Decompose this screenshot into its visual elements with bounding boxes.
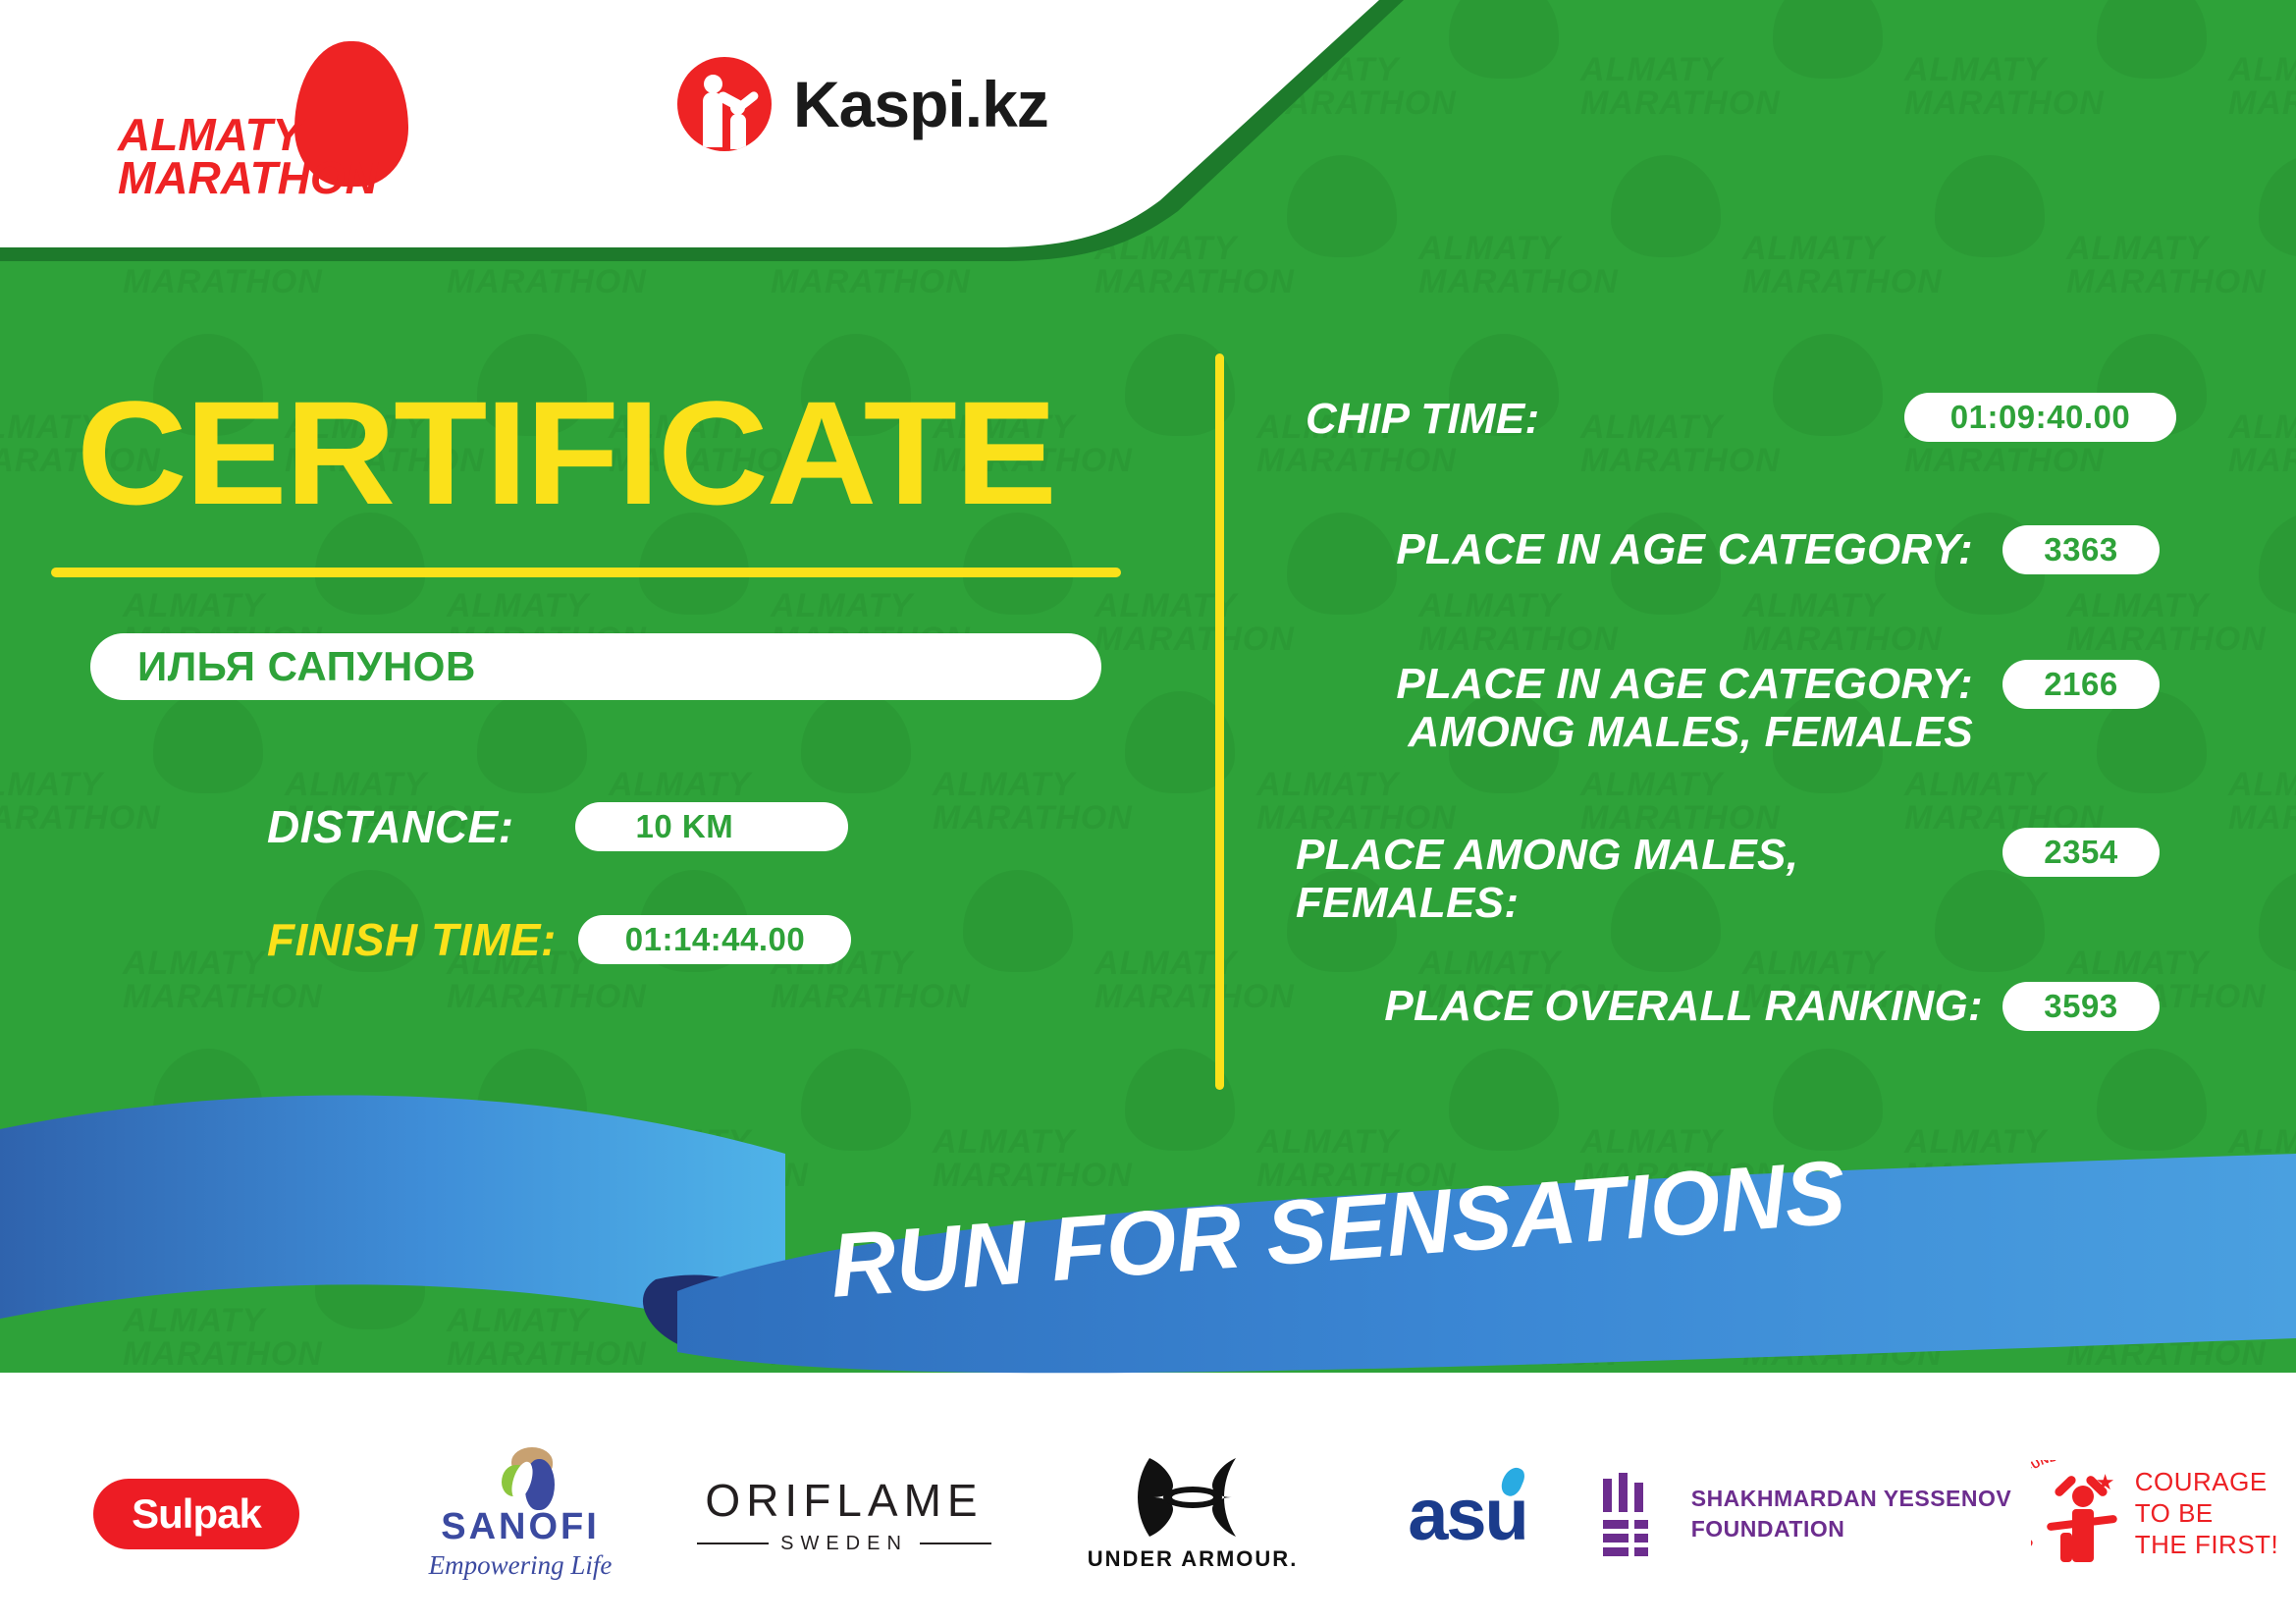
sanofi-tagline: Empowering Life [429, 1550, 613, 1581]
courage-text: COURAGE TO BE THE FIRST! [2135, 1467, 2279, 1560]
watermark-drop-icon [1935, 155, 2045, 257]
distance-value: 10 KM [636, 808, 734, 845]
oriflame-subline: SWEDEN [697, 1533, 991, 1555]
watermark-line2: MARATHON [1904, 442, 2105, 480]
finish-time-row: FINISH TIME: 01:14:44.00 [267, 913, 851, 966]
watermark-tile: ALMATYMARATHON [2228, 0, 2296, 149]
sanofi-text: SANOFI [441, 1506, 600, 1548]
finish-time-value-pill: 01:14:44.00 [578, 915, 851, 964]
result-value: 2354 [2044, 834, 2117, 871]
courage-line2: TO BE [2135, 1498, 2279, 1530]
watermark-line2: MARATHON [1418, 263, 1619, 301]
watermark-line2: MARATHON [2066, 621, 2267, 659]
oriflame-rule-left [697, 1543, 769, 1544]
result-label: PLACE IN AGE CATEGORY: [1306, 525, 1973, 573]
result-value: 2166 [2044, 666, 2117, 703]
asu-logo: asu [1408, 1473, 1527, 1556]
yessenov-text: SHAKHMARDAN YESSENOV FOUNDATION [1691, 1486, 2012, 1543]
sulpak-logo: Sulpak [93, 1479, 299, 1549]
sponsor-under-armour: UNDER ARMOUR. [1055, 1404, 1330, 1624]
distance-value-pill: 10 KM [575, 802, 848, 851]
result-label: PLACE OVERALL RANKING: [1296, 982, 1983, 1030]
watermark-drop-icon [963, 870, 1073, 972]
result-label-line2: AMONG MALES, FEMALES [1306, 708, 1973, 756]
watermark-drop-icon [2259, 870, 2296, 972]
courage-head [2072, 1486, 2094, 1507]
kaspi-logo: Kaspi.kz [677, 57, 1048, 151]
watermark-line2: MARATHON [1580, 84, 1781, 123]
sponsor-asu: asu [1345, 1404, 1590, 1624]
participant-name-field: ИЛЬЯ САПУНОВ [90, 633, 1101, 700]
watermark-drop-icon [1773, 0, 1883, 79]
yes-bar-6 [1603, 1534, 1629, 1543]
watermark-tile: ALMATYMARATHON [0, 685, 285, 864]
courage-line3: THE FIRST! [2135, 1530, 2279, 1561]
result-row-overall: PLACE OVERALL RANKING: [1296, 982, 1983, 1030]
kaspi-kid-body [730, 114, 746, 149]
watermark-tile: ALMATYMARATHON [2228, 685, 2296, 864]
distance-row: DISTANCE: 10 KM [267, 800, 848, 853]
almaty-logo-line2: MARATHON [118, 151, 378, 204]
watermark-tile: ALMATYMARATHON [1418, 149, 1742, 328]
sponsor-yessenov-foundation: SHAKHMARDAN YESSENOV FOUNDATION [1600, 1404, 2012, 1624]
watermark-line2: MARATHON [1095, 978, 1295, 1016]
sponsor-courage-fund: CORPORATE FUND ★ COURAGE TO BE THE FIRST… [2022, 1404, 2287, 1624]
result-label-line2: FEMALES: [1296, 879, 1973, 927]
result-value: 3593 [2044, 988, 2117, 1025]
courage-line1: COURAGE [2135, 1467, 2279, 1498]
result-value-pill-among-gender: 2354 [2002, 828, 2160, 877]
watermark-tile: ALMATYMARATHON [1742, 149, 2066, 328]
sanofi-bird-icon [484, 1447, 557, 1504]
participant-name: ИЛЬЯ САПУНОВ [137, 643, 476, 690]
yessenov-line1: SHAKHMARDAN YESSENOV [1691, 1486, 2012, 1512]
sponsor-oriflame: ORIFLAME SWEDEN [687, 1404, 1001, 1624]
svg-text:CORPORATE FUND: CORPORATE FUND [2031, 1460, 2058, 1551]
page-title: CERTIFICATE [77, 385, 1055, 520]
watermark-line2: MARATHON [123, 978, 323, 1016]
result-row-age-category-gender: PLACE IN AGE CATEGORY: AMONG MALES, FEMA… [1306, 660, 1973, 757]
watermark-line2: MARATHON [1904, 84, 2105, 123]
yes-bar-8 [1603, 1547, 1629, 1556]
watermark-drop-icon [2097, 0, 2207, 79]
result-value-pill-chip-time: 01:09:40.00 [1904, 393, 2176, 442]
header-panel: ALMATY MARATHON Kaspi.kz [0, 0, 1404, 273]
result-label-line1: PLACE AMONG MALES, [1296, 831, 1973, 879]
watermark-line2: MARATHON [1742, 263, 1943, 301]
watermark-drop-icon [1449, 0, 1559, 79]
courage-leg [2060, 1533, 2072, 1562]
kaspi-figures-icon [677, 57, 772, 151]
result-label-multiline: PLACE AMONG MALES, FEMALES: [1296, 831, 1973, 928]
watermark-line2: MARATHON [0, 799, 161, 838]
sponsor-sanofi: SANOFI Empowering Life [373, 1404, 667, 1624]
yessenov-bars-icon [1601, 1473, 1670, 1555]
under-armour-text: UNDER ARMOUR. [1088, 1546, 1299, 1572]
sulpak-text: Sulpak [132, 1490, 261, 1538]
yessenov-line2: FOUNDATION [1691, 1516, 2012, 1543]
yes-bar-3 [1634, 1483, 1643, 1512]
watermark-drop-icon [1611, 155, 1721, 257]
watermark-line2: MARATHON [447, 978, 647, 1016]
watermark-line2: MARATHON [2228, 799, 2296, 838]
kaspi-kid-head [730, 100, 745, 115]
result-value-pill-overall: 3593 [2002, 982, 2160, 1031]
result-row-age-category: PLACE IN AGE CATEGORY: [1306, 525, 1973, 573]
watermark-drop-icon [477, 691, 587, 793]
result-label: CHIP TIME: [1306, 395, 1539, 443]
result-row-chip-time: CHIP TIME: [1306, 395, 1895, 443]
result-value-pill-age-category-gender: 2166 [2002, 660, 2160, 709]
result-row-among-gender: PLACE AMONG MALES, FEMALES: [1296, 831, 1973, 928]
under-armour-icon [1134, 1456, 1252, 1539]
certificate-page: ALMATYMARATHONALMATYMARATHONALMATYMARATH… [0, 0, 2296, 1624]
title-underline [51, 568, 1121, 577]
oriflame-rule-right [920, 1543, 991, 1544]
watermark-line2: MARATHON [771, 978, 971, 1016]
yes-bar-4 [1603, 1520, 1629, 1529]
watermark-line2: MARATHON [2228, 442, 2296, 480]
result-label-line1: PLACE IN AGE CATEGORY: [1306, 660, 1973, 708]
watermark-drop-icon [801, 691, 911, 793]
result-label-multiline: PLACE IN AGE CATEGORY: AMONG MALES, FEMA… [1306, 660, 1973, 757]
watermark-line2: MARATHON [2066, 263, 2267, 301]
result-value-pill-age-category: 3363 [2002, 525, 2160, 574]
sponsor-sulpak: Sulpak [59, 1404, 334, 1624]
yes-bar-5 [1634, 1520, 1648, 1529]
watermark-drop-icon [153, 691, 263, 793]
yes-bar-9 [1634, 1547, 1648, 1556]
kaspi-logo-text: Kaspi.kz [793, 67, 1048, 141]
watermark-tile: ALMATYMARATHON [1904, 0, 2228, 149]
watermark-line2: MARATHON [2228, 84, 2296, 123]
watermark-tile: ALMATYMARATHON [2228, 328, 2296, 507]
distance-label: DISTANCE: [267, 800, 514, 853]
yes-bar-1 [1603, 1479, 1612, 1512]
watermark-tile: ALMATYMARATHON [2066, 149, 2296, 328]
watermark-line2: MARATHON [933, 799, 1133, 838]
vertical-divider [1215, 353, 1224, 1090]
finish-time-value: 01:14:44.00 [625, 921, 805, 958]
result-value: 01:09:40.00 [1950, 399, 2130, 436]
watermark-tile: ALMATYMARATHON [1580, 0, 1904, 149]
courage-runner-icon: CORPORATE FUND ★ [2031, 1460, 2125, 1568]
watermark-line2: MARATHON [1095, 621, 1295, 659]
oriflame-sub-text: SWEDEN [780, 1533, 908, 1555]
watermark-tile: ALMATYMARATHON [933, 685, 1256, 864]
finish-time-label: FINISH TIME: [267, 913, 557, 966]
oriflame-text: ORIFLAME [705, 1474, 983, 1527]
almaty-marathon-logo: ALMATY MARATHON [118, 41, 412, 198]
watermark-drop-icon [2259, 513, 2296, 615]
watermark-line2: MARATHON [1256, 442, 1457, 480]
result-value: 3363 [2044, 531, 2117, 568]
watermark-drop-icon [2259, 155, 2296, 257]
yes-bar-7 [1634, 1534, 1648, 1543]
watermark-line2: MARATHON [1418, 621, 1619, 659]
kaspi-adult-head [704, 75, 722, 93]
sponsor-bar: Sulpak SANOFI Empowering Life ORIFLAME S… [0, 1404, 2296, 1624]
watermark-line2: MARATHON [1742, 621, 1943, 659]
courage-arc-text: CORPORATE FUND [2031, 1460, 2058, 1551]
yes-bar-2 [1619, 1473, 1628, 1512]
watermark-line2: MARATHON [1580, 442, 1781, 480]
